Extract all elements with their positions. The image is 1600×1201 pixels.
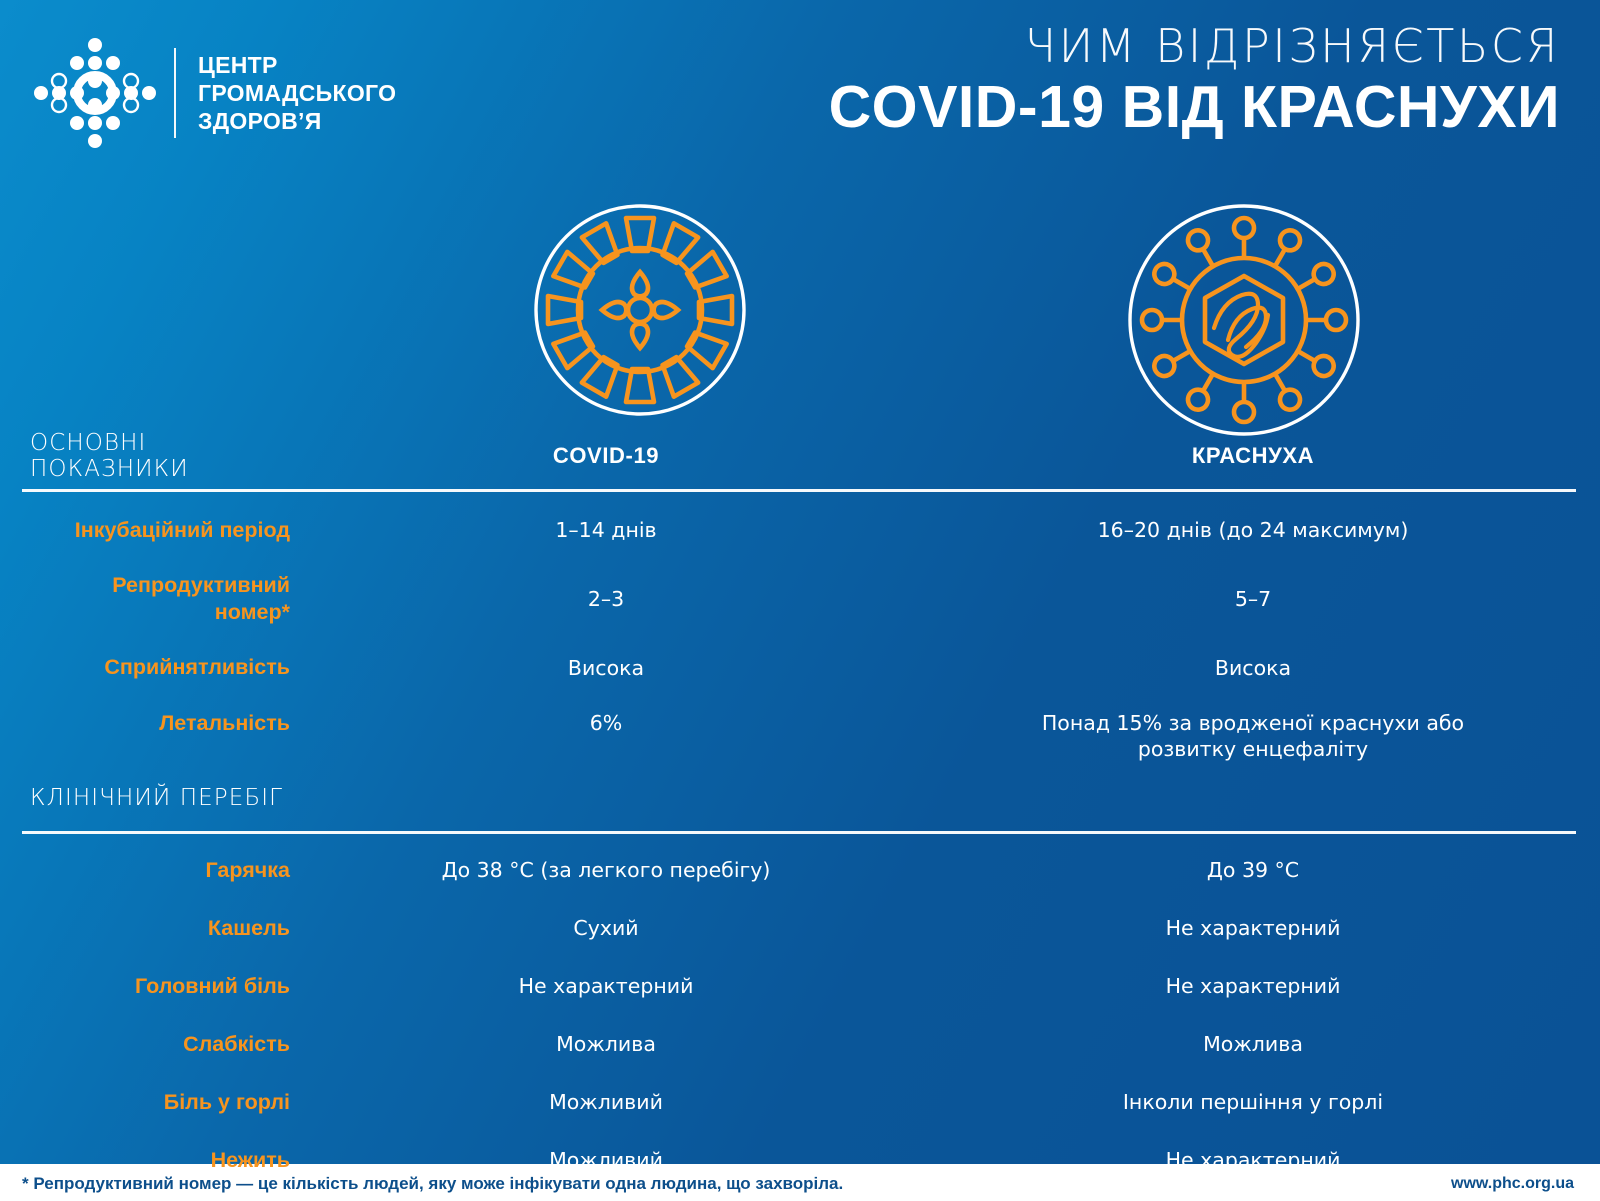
brand-name-line-3: ЗДОРОВ’Я [198, 107, 396, 135]
row-value-rubella-reproductive-number: 5–7 [906, 586, 1600, 612]
row-label-susceptibility: Сприйнятливість [0, 654, 306, 681]
row-value-rubella-cough: Не характерний [906, 915, 1600, 941]
table-section-header-clinical: КЛІНІЧНИЙ ПЕРЕБІГ [0, 774, 1600, 822]
row-value-rubella-headache: Не характерний [906, 973, 1600, 999]
row-value-rubella-susceptibility: Висока [906, 655, 1600, 681]
row-value-covid-runny-nose: Можливий [306, 1147, 906, 1173]
table-row: Слабкість Можлива Можлива [0, 1016, 1600, 1072]
row-value-rubella-lethality: Понад 15% за вродженої краснухи аборозви… [973, 710, 1533, 762]
table-row: Репродуктивнийномер* 2–3 5–7 [0, 566, 1600, 632]
table-row: Сприйнятливість Висока Висока [0, 640, 1600, 696]
row-value-covid-incubation: 1–14 днів [306, 517, 906, 543]
row-value-covid-sore-throat: Можливий [306, 1089, 906, 1115]
section-title-main-indicators: ОСНОВНІ ПОКАЗНИКИ [0, 430, 306, 482]
table-row: Головний біль Не характерний Не характер… [0, 958, 1600, 1014]
table-row: Летальність 6% Понад 15% за вродженої кр… [0, 704, 1600, 768]
table-row: Кашель Сухий Не характерний [0, 900, 1600, 956]
row-value-covid-reproductive-number: 2–3 [306, 586, 906, 612]
phc-dots-logo-icon [34, 37, 156, 149]
row-label-fever: Гарячка [0, 857, 306, 884]
row-label-sore-throat: Біль у горлі [0, 1089, 306, 1116]
row-label-incubation: Інкубаційний період [0, 517, 306, 544]
row-label-lethality: Летальність [0, 710, 306, 737]
table-row: Біль у горлі Можливий Інколи першіння у … [0, 1074, 1600, 1130]
section-divider-1 [22, 489, 1576, 492]
website-link[interactable]: www.phc.org.ua [1451, 1175, 1574, 1193]
column-header-covid: COVID-19 [306, 443, 906, 469]
row-label-runny-nose: Нежить [0, 1147, 306, 1174]
row-value-rubella-incubation: 16–20 днів (до 24 максимум) [906, 517, 1600, 543]
row-label-cough: Кашель [0, 915, 306, 942]
row-value-rubella-weakness: Можлива [906, 1031, 1600, 1057]
table-row: Гарячка До 38 °C (за легкого перебігу) Д… [0, 842, 1600, 898]
row-value-rubella-runny-nose: Не характерний [906, 1147, 1600, 1173]
row-value-covid-lethality: 6% [306, 710, 906, 736]
row-label-weakness: Слабкість [0, 1031, 306, 1058]
poster-title: ЧИМ ВІДРІЗНЯЄТЬСЯ COVID-19 ВІД КРАСНУХИ [660, 22, 1560, 140]
logo-divider [174, 48, 176, 138]
row-value-rubella-sore-throat: Інколи першіння у горлі [906, 1089, 1600, 1115]
row-label-headache: Головний біль [0, 973, 306, 1000]
row-value-covid-headache: Не характерний [306, 973, 906, 999]
row-value-covid-cough: Сухий [306, 915, 906, 941]
footnote-reproductive-number: * Репродуктивний номер — це кількість лю… [22, 1174, 843, 1194]
title-main: COVID-19 ВІД КРАСНУХИ [660, 74, 1560, 140]
title-subtitle: ЧИМ ВІДРІЗНЯЄТЬСЯ [660, 22, 1560, 70]
row-value-covid-fever: До 38 °C (за легкого перебігу) [306, 857, 906, 883]
brand-name-line-2: ГРОМАДСЬКОГО [198, 79, 396, 107]
row-value-covid-susceptibility: Висока [306, 655, 906, 681]
section-title-clinical-course: КЛІНІЧНИЙ ПЕРЕБІГ [0, 785, 306, 811]
column-header-rubella: КРАСНУХА [906, 443, 1600, 469]
row-label-reproductive-number: Репродуктивнийномер* [0, 572, 306, 626]
rubella-virus-icon [1128, 204, 1360, 436]
infographic-poster: ЦЕНТР ГРОМАДСЬКОГО ЗДОРОВ’Я ЧИМ ВІДРІЗНЯ… [0, 0, 1600, 1201]
row-value-rubella-fever: До 39 °C [906, 857, 1600, 883]
brand-logo-block: ЦЕНТР ГРОМАДСЬКОГО ЗДОРОВ’Я [34, 38, 396, 148]
table-row: Інкубаційний період 1–14 днів 16–20 днів… [0, 502, 1600, 558]
table-section-header-main: ОСНОВНІ ПОКАЗНИКИ COVID-19 КРАСНУХА [0, 432, 1600, 480]
row-value-covid-weakness: Можлива [306, 1031, 906, 1057]
coronavirus-icon [534, 204, 746, 416]
brand-name: ЦЕНТР ГРОМАДСЬКОГО ЗДОРОВ’Я [198, 51, 396, 135]
brand-name-line-1: ЦЕНТР [198, 51, 396, 79]
comparison-table: ОСНОВНІ ПОКАЗНИКИ COVID-19 КРАСНУХА Інку… [0, 432, 1600, 1201]
section-divider-2 [22, 831, 1576, 834]
